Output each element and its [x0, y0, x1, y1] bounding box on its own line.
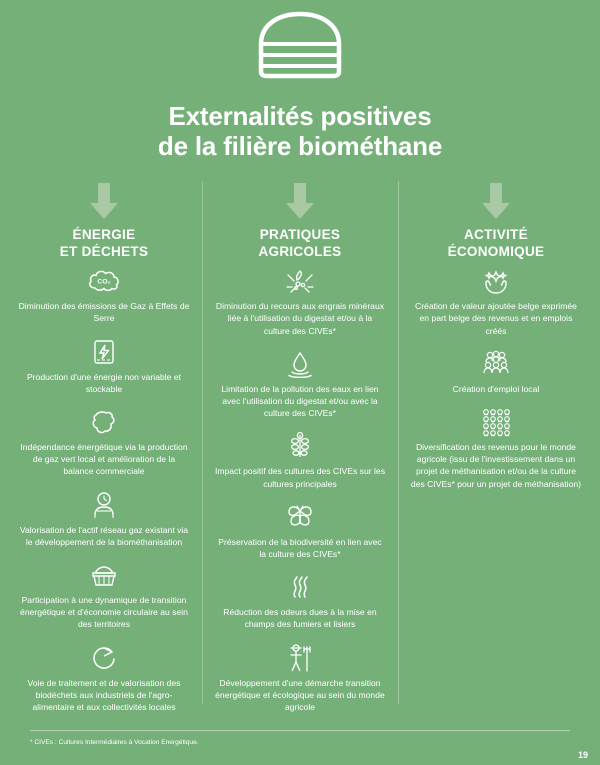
list-item: Impact positif des cultures des CIVEs su… — [212, 431, 388, 489]
list-item: Préservation de la biodiversité en lien … — [212, 502, 388, 560]
column-heading-energie: ÉNERGIE ET DÉCHETS — [16, 227, 192, 260]
down-arrow-icon — [16, 181, 192, 225]
columns-container: ÉNERGIE ET DÉCHETS CO₂ Diminution des ém… — [0, 181, 600, 725]
page-footer: * CIVEs : Cultures Intermédiaires à Voca… — [30, 730, 570, 747]
column-heading-pratiques: PRATIQUES AGRICOLES — [212, 227, 388, 260]
list-item: Production d'une énergie non variable et… — [16, 337, 192, 395]
list-item: Création d'emploi local — [408, 349, 584, 395]
battery-lightning-icon — [16, 337, 192, 367]
list-item: Développement d'une démarche transition … — [212, 643, 388, 714]
column-pratiques-agricoles: PRATIQUES AGRICOLES Diminution du recour… — [202, 181, 398, 725]
list-item: Indépendance énergétique via la producti… — [16, 407, 192, 478]
list-item-text: Création de valeur ajoutée belge exprimé… — [408, 300, 584, 337]
recycling-loop-icon — [16, 643, 192, 673]
page-title-line-2: de la filière biométhane — [0, 131, 600, 161]
list-item-text: Impact positif des cultures des CIVEs su… — [212, 465, 388, 489]
list-item-text: Limitation de la pollution des eaux en l… — [212, 383, 388, 420]
list-item-text: Production d'une énergie non variable et… — [16, 371, 192, 395]
biogas-digester-dome-icon — [0, 8, 600, 87]
page-title-line-1: Externalités positives — [0, 101, 600, 131]
page-title: Externalités positives de la filière bio… — [0, 101, 600, 161]
list-item-text: Réduction des odeurs dues à la mise en c… — [212, 606, 388, 630]
farmer-pitchfork-icon — [212, 643, 388, 673]
water-drop-icon — [212, 349, 388, 379]
butterfly-icon — [212, 502, 388, 532]
page-header: Externalités positives de la filière bio… — [0, 0, 600, 161]
column-heading-line-1: ACTIVITÉ — [408, 227, 584, 243]
column-heading-activite: ACTIVITÉ ÉCONOMIQUE — [408, 227, 584, 260]
list-item: Voie de traitement et de valorisation de… — [16, 643, 192, 714]
column-energie-et-dechets: ÉNERGIE ET DÉCHETS CO₂ Diminution des ém… — [6, 181, 202, 725]
list-item: CO₂ Diminution des émissions de Gaz à Ef… — [16, 266, 192, 324]
items-list-activite: Création de valeur ajoutée belge exprimé… — [408, 266, 584, 490]
items-list-energie: CO₂ Diminution des émissions de Gaz à Ef… — [16, 266, 192, 713]
column-heading-line-2: ET DÉCHETS — [16, 244, 192, 260]
footer-divider — [30, 730, 570, 731]
list-item-text: Voie de traitement et de valorisation de… — [16, 677, 192, 714]
no-fertilizer-icon — [212, 266, 388, 296]
list-item-text: Diversification des revenus pour le mond… — [408, 441, 584, 490]
footnote-text: * CIVEs : Cultures Intermédiaires à Voca… — [30, 738, 570, 747]
diversification-grid-icon — [408, 407, 584, 437]
page-number: 19 — [578, 750, 588, 760]
list-item: Participation à une dynamique de transit… — [16, 560, 192, 631]
co2-cloud-icon: CO₂ — [16, 266, 192, 296]
svg-text:CO₂: CO₂ — [97, 279, 110, 286]
compost-bin-icon — [16, 560, 192, 590]
items-list-pratiques: Diminution du recours aux engrais minéra… — [212, 266, 388, 713]
down-arrow-icon — [212, 181, 388, 225]
column-heading-line-1: ÉNERGIE — [16, 227, 192, 243]
list-item: Réduction des odeurs dues à la mise en c… — [212, 572, 388, 630]
column-heading-line-2: ÉCONOMIQUE — [408, 244, 584, 260]
list-item-text: Développement d'une démarche transition … — [212, 677, 388, 714]
list-item: Création de valeur ajoutée belge exprimé… — [408, 266, 584, 337]
plant-sprout-icon — [212, 431, 388, 461]
list-item-text: Valorisation de l'actif réseau gaz exist… — [16, 524, 192, 548]
odor-waves-icon — [212, 572, 388, 602]
list-item-text: Préservation de la biodiversité en lien … — [212, 536, 388, 560]
down-arrow-icon — [408, 181, 584, 225]
list-item: Diversification des revenus pour le mond… — [408, 407, 584, 490]
list-item-text: Création d'emploi local — [408, 383, 584, 395]
column-heading-line-1: PRATIQUES — [212, 227, 388, 243]
belgium-map-icon — [16, 407, 192, 437]
list-item: Valorisation de l'actif réseau gaz exist… — [16, 490, 192, 548]
list-item-text: Diminution des émissions de Gaz à Effets… — [16, 300, 192, 324]
list-item-text: Participation à une dynamique de transit… — [16, 594, 192, 631]
column-activite-economique: ACTIVITÉ ÉCONOMIQUE Création de valeur a… — [398, 181, 594, 725]
column-heading-line-2: AGRICOLES — [212, 244, 388, 260]
list-item-text: Diminution du recours aux engrais minéra… — [212, 300, 388, 337]
list-item: Limitation de la pollution des eaux en l… — [212, 349, 388, 420]
list-item: Diminution du recours aux engrais minéra… — [212, 266, 388, 337]
people-group-icon — [408, 349, 584, 379]
list-item-text: Indépendance énergétique via la producti… — [16, 441, 192, 478]
gas-meter-icon — [16, 490, 192, 520]
hands-sparkle-icon — [408, 266, 584, 296]
